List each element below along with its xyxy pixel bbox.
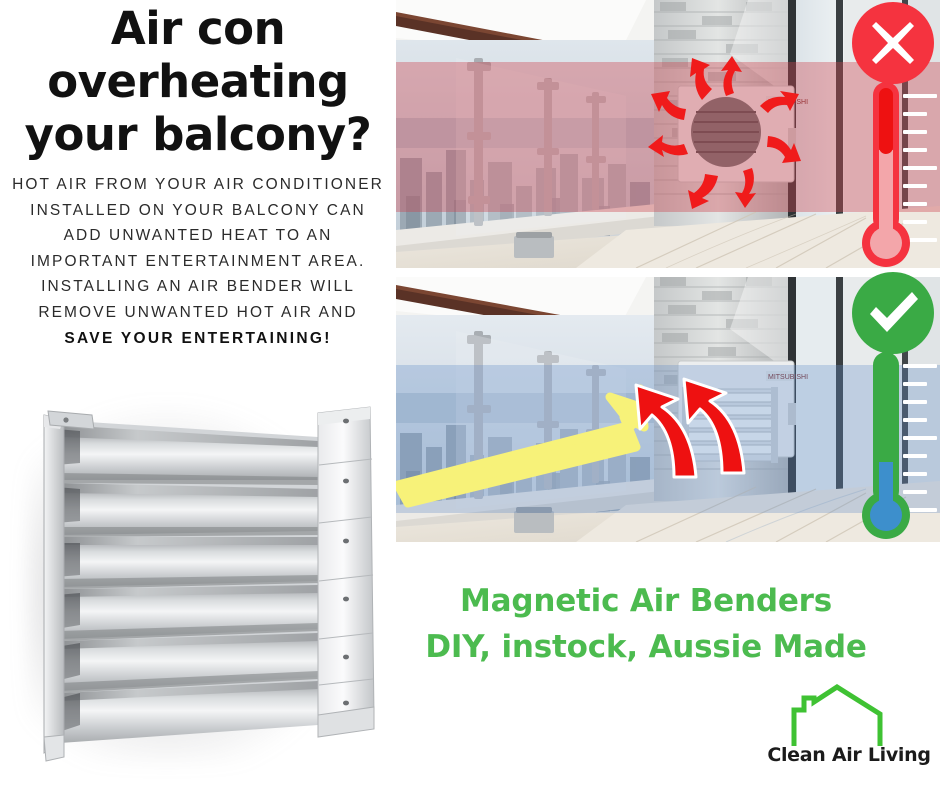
headline-line-2: overheating: [4, 55, 392, 108]
brand-name: Clean Air Living: [760, 744, 938, 766]
body-emphasis: Save your entertaining!: [8, 326, 388, 352]
house-icon: [788, 684, 886, 746]
cross-icon: [852, 2, 934, 84]
brand-logo: Clean Air Living: [760, 684, 938, 782]
cool-thermometer: [845, 350, 940, 542]
tagline-line-1: Magnetic Air Benders: [396, 578, 896, 624]
mercury-fill-hot: [879, 88, 893, 154]
body-copy: Hot air from your air conditioner instal…: [8, 172, 388, 351]
thermometer-ticks: [903, 364, 937, 512]
air-bender-louvre-graphic: [18, 385, 384, 780]
page-title: Air con overheating your balcony?: [4, 2, 392, 161]
check-icon: [852, 272, 934, 354]
product-image: [18, 385, 384, 780]
headline-line-3: your balcony?: [4, 108, 392, 161]
mercury-fill-cool: [879, 462, 893, 510]
hot-thermometer: [845, 80, 940, 270]
thermometer-ticks: [903, 94, 937, 242]
left-content-column: Air con overheating your balcony? Hot ai…: [0, 0, 396, 788]
body-paragraph: Hot air from your air conditioner instal…: [12, 176, 384, 321]
tagline-line-2: DIY, instock, Aussie Made: [396, 624, 896, 670]
tagline: Magnetic Air Benders DIY, instock, Aussi…: [396, 578, 896, 670]
headline-line-1: Air con: [4, 2, 392, 55]
advertisement-canvas: Air con overheating your balcony? Hot ai…: [0, 0, 940, 788]
